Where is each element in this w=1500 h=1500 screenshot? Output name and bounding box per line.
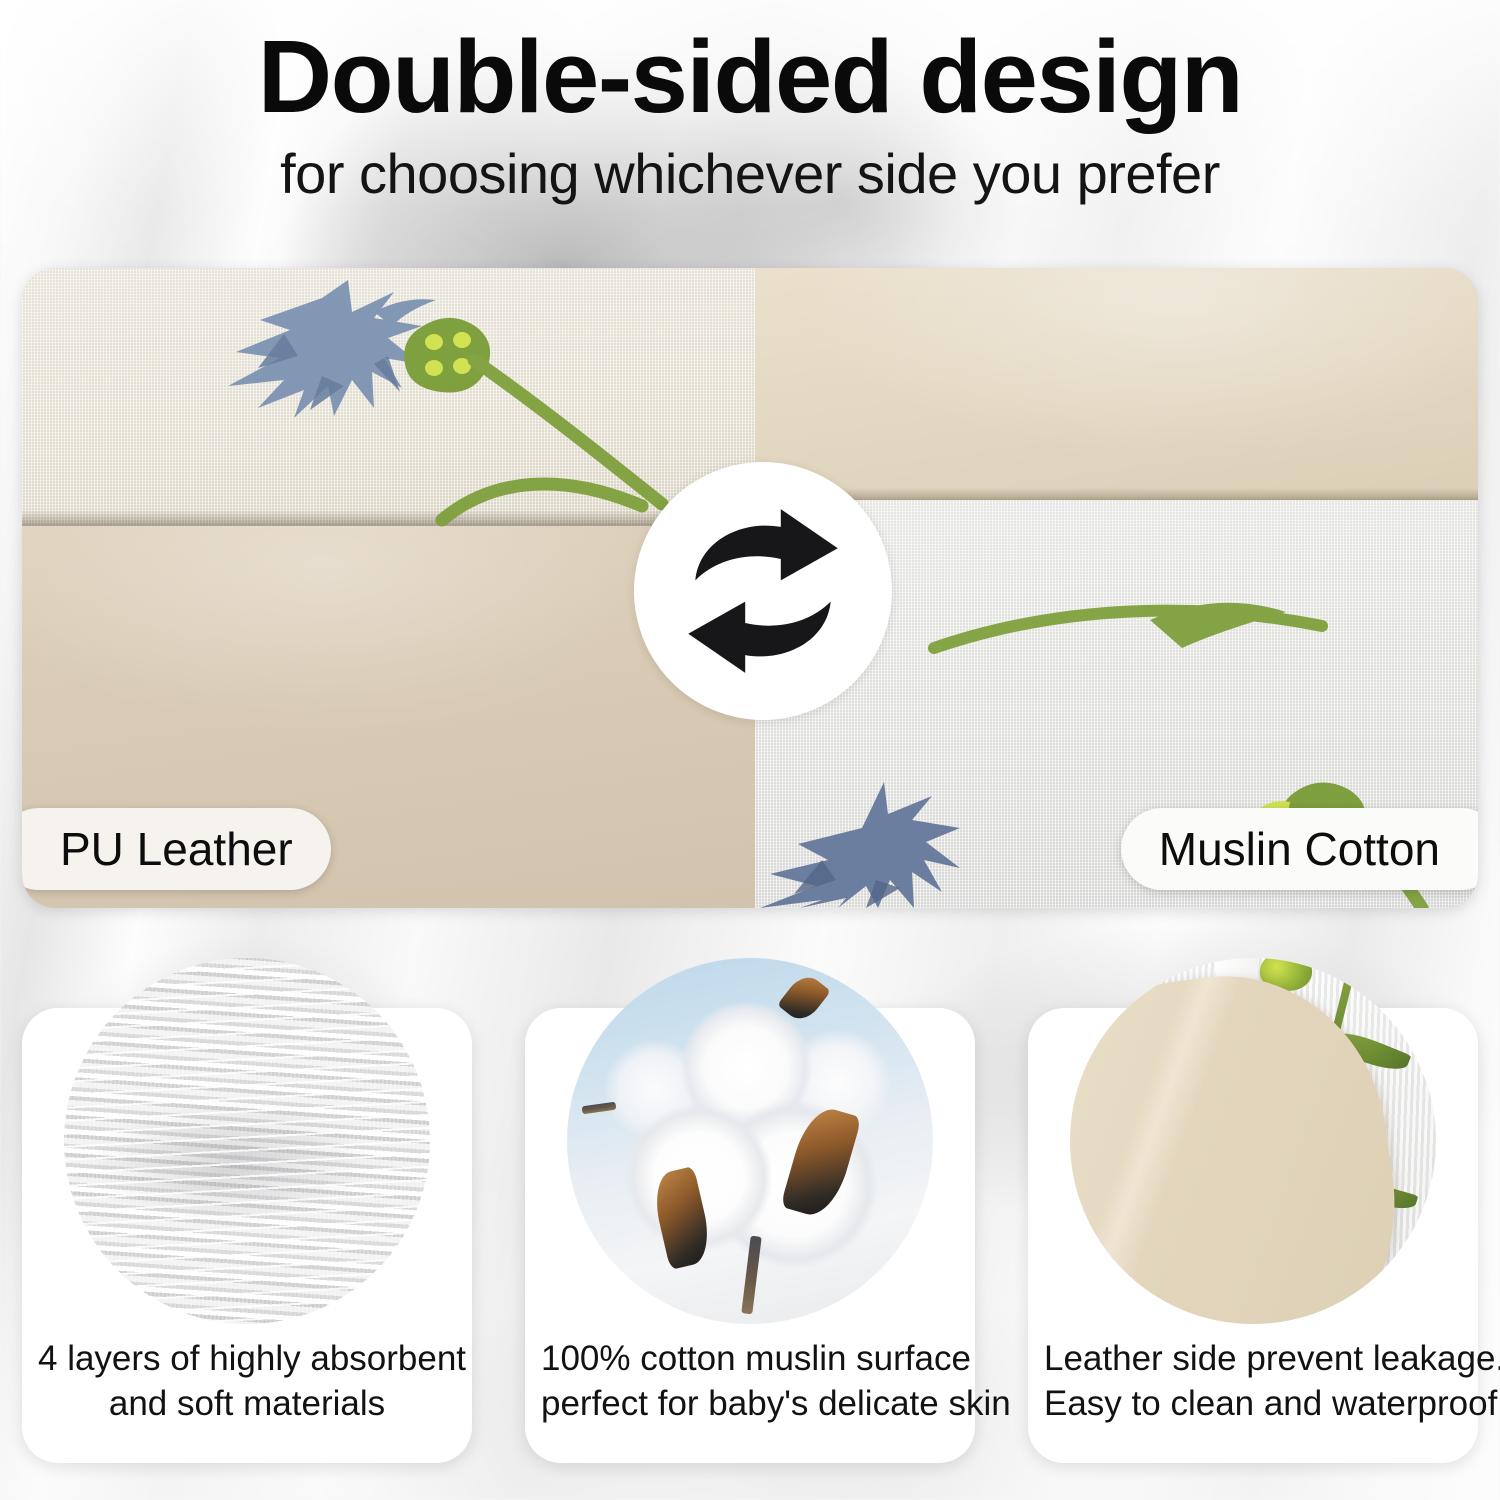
swap-arrows-badge — [634, 462, 892, 720]
cotton-husk — [648, 1166, 714, 1270]
swap-arrows-icon — [674, 502, 852, 680]
feature-cards-row: 4 layers of highly absorbent and soft ma… — [22, 1008, 1478, 1463]
label-pu-leather: PU Leather — [22, 808, 331, 890]
caption-line: 4 layers of highly absorbent — [38, 1337, 456, 1382]
hero-quadrant-leather-top-right — [755, 268, 1478, 500]
caption-line: Leather side prevent leakage. — [1044, 1337, 1462, 1382]
page-subtitle: for choosing whichever side you prefer — [0, 141, 1500, 206]
product-feature-page: Double-sided design for choosing whichev… — [0, 0, 1500, 1500]
gauze-layers-photo — [64, 958, 430, 1324]
feature-card-leather-waterproof: Leather side prevent leakage. Easy to cl… — [1028, 1008, 1478, 1463]
hero-quadrant-muslin-top-left — [22, 268, 755, 526]
heading-block: Double-sided design for choosing whichev… — [0, 22, 1500, 206]
caption-line: 100% cotton muslin surface — [541, 1337, 959, 1382]
hero-comparison-image: PU Leather Muslin Cotton — [22, 268, 1478, 908]
cotton-husk — [777, 970, 831, 1026]
page-title: Double-sided design — [0, 22, 1500, 131]
feature-card-caption: 100% cotton muslin surface perfect for b… — [541, 1337, 959, 1427]
caption-line: and soft materials — [38, 1382, 456, 1427]
cotton-bolls-photo — [567, 958, 933, 1324]
feature-card-caption: Leather side prevent leakage. Easy to cl… — [1044, 1337, 1462, 1427]
caption-line: Easy to clean and waterproof — [1044, 1382, 1462, 1427]
cotton-stem — [742, 1236, 762, 1315]
folded-mat-photo — [1070, 958, 1436, 1324]
feature-card-caption: 4 layers of highly absorbent and soft ma… — [38, 1337, 456, 1427]
mat-leather-side — [1070, 958, 1419, 1324]
cotton-stem — [581, 1102, 616, 1115]
feature-card-cotton-surface: 100% cotton muslin surface perfect for b… — [525, 1008, 975, 1463]
cotton-husk — [780, 1103, 862, 1222]
label-muslin-cotton: Muslin Cotton — [1121, 808, 1478, 890]
feature-card-absorbent-layers: 4 layers of highly absorbent and soft ma… — [22, 1008, 472, 1463]
caption-line: perfect for baby's delicate skin — [541, 1382, 959, 1427]
